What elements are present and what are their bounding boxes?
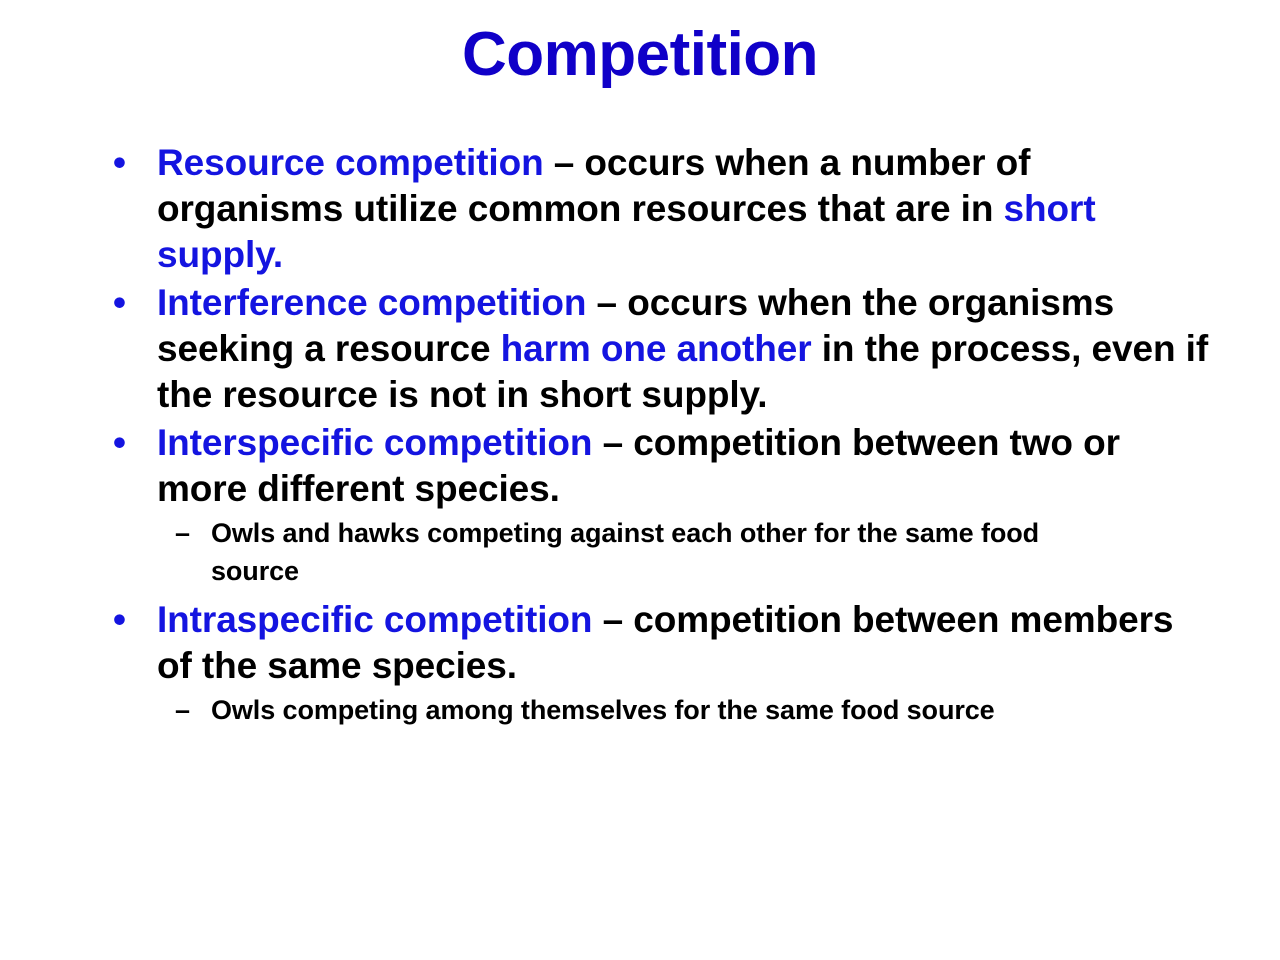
bullet-marker-icon: • — [104, 597, 157, 643]
list-item: • Resource competition – occurs when a n… — [104, 140, 1209, 278]
bullet-marker-icon: • — [104, 420, 157, 466]
bullet-term: Interference competition — [157, 282, 586, 323]
bullet-term: Interspecific competition — [157, 422, 592, 463]
bullet-list: • Resource competition – occurs when a n… — [104, 140, 1209, 732]
list-item-text: Resource competition – occurs when a num… — [157, 140, 1209, 278]
list-item: • Interference competition – occurs when… — [104, 280, 1209, 418]
bullet-marker-icon: • — [104, 140, 157, 186]
list-item-text: Interference competition – occurs when t… — [157, 280, 1209, 418]
sub-bullet-dash-icon: – — [104, 691, 211, 729]
page-title: Competition — [0, 22, 1280, 87]
list-item: • Interspecific competition – competitio… — [104, 420, 1209, 512]
list-item-text: Intraspecific competition – competition … — [157, 597, 1209, 689]
bullet-dash: – — [592, 422, 633, 463]
bullet-emphasis: harm one another — [501, 328, 812, 369]
bullet-marker-icon: • — [104, 280, 157, 326]
list-item-text: Interspecific competition – competition … — [157, 420, 1209, 512]
bullet-term: Intraspecific competition — [157, 599, 592, 640]
sub-list-item: – Owls competing among themselves for th… — [104, 691, 1209, 729]
bullet-dash: – — [592, 599, 633, 640]
sub-list-item: – Owls and hawks competing against each … — [104, 514, 1209, 590]
sub-bullet-dash-icon: – — [104, 514, 211, 552]
sub-list-item-text: Owls and hawks competing against each ot… — [211, 514, 1126, 590]
sub-list-item-text: Owls competing among themselves for the … — [211, 691, 1126, 729]
slide-canvas: Competition • Resource competition – occ… — [0, 0, 1280, 960]
list-item: • Intraspecific competition – competitio… — [104, 597, 1209, 689]
bullet-dash: – — [544, 142, 585, 183]
bullet-term: Resource competition — [157, 142, 544, 183]
bullet-dash: – — [586, 282, 627, 323]
